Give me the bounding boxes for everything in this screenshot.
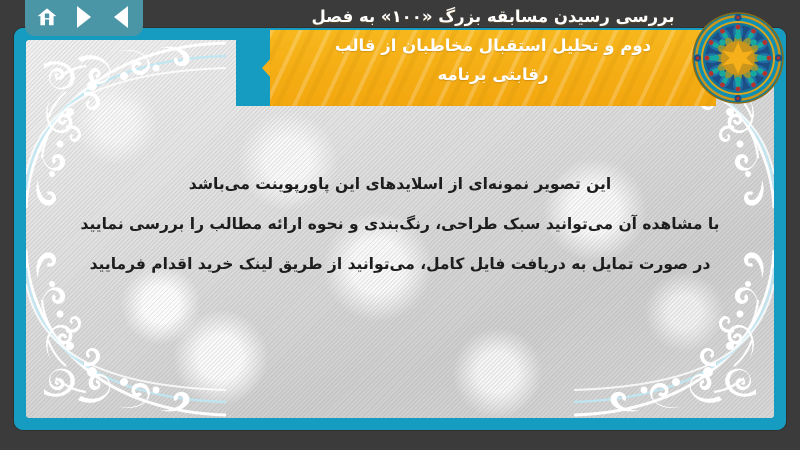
- navigation-bar: [25, 0, 143, 36]
- slide-body-text: این تصویر نمونه‌ای از اسلایدهای این پاور…: [54, 164, 746, 284]
- body-line-3: در صورت تمایل به دریافت فایل کامل، می‌تو…: [54, 244, 746, 284]
- triangle-right-icon: [77, 6, 91, 28]
- home-icon: [35, 6, 59, 28]
- triangle-left-icon: [114, 6, 128, 28]
- title-line-2: دوم و تحلیل استقبال مخاطبان از قالب: [280, 31, 706, 60]
- persian-mandala-medallion-icon: [692, 12, 784, 104]
- screenshot-stage: این تصویر نمونه‌ای از اسلایدهای این پاور…: [0, 0, 800, 450]
- home-button[interactable]: [34, 5, 60, 29]
- body-line-1: این تصویر نمونه‌ای از اسلایدهای این پاور…: [54, 164, 746, 204]
- back-button[interactable]: [108, 5, 134, 29]
- title-line-1: بررسی رسیدن مسابقه بزرگ «۱۰۰» به فصل: [280, 2, 706, 31]
- title-line-3: رقابتی برنامه: [280, 60, 706, 89]
- body-line-2: با مشاهده آن می‌توانید سبک طراحی، رنگ‌بن…: [54, 204, 746, 244]
- slide-title: بررسی رسیدن مسابقه بزرگ «۱۰۰» به فصل دوم…: [236, 2, 706, 89]
- forward-button[interactable]: [71, 5, 97, 29]
